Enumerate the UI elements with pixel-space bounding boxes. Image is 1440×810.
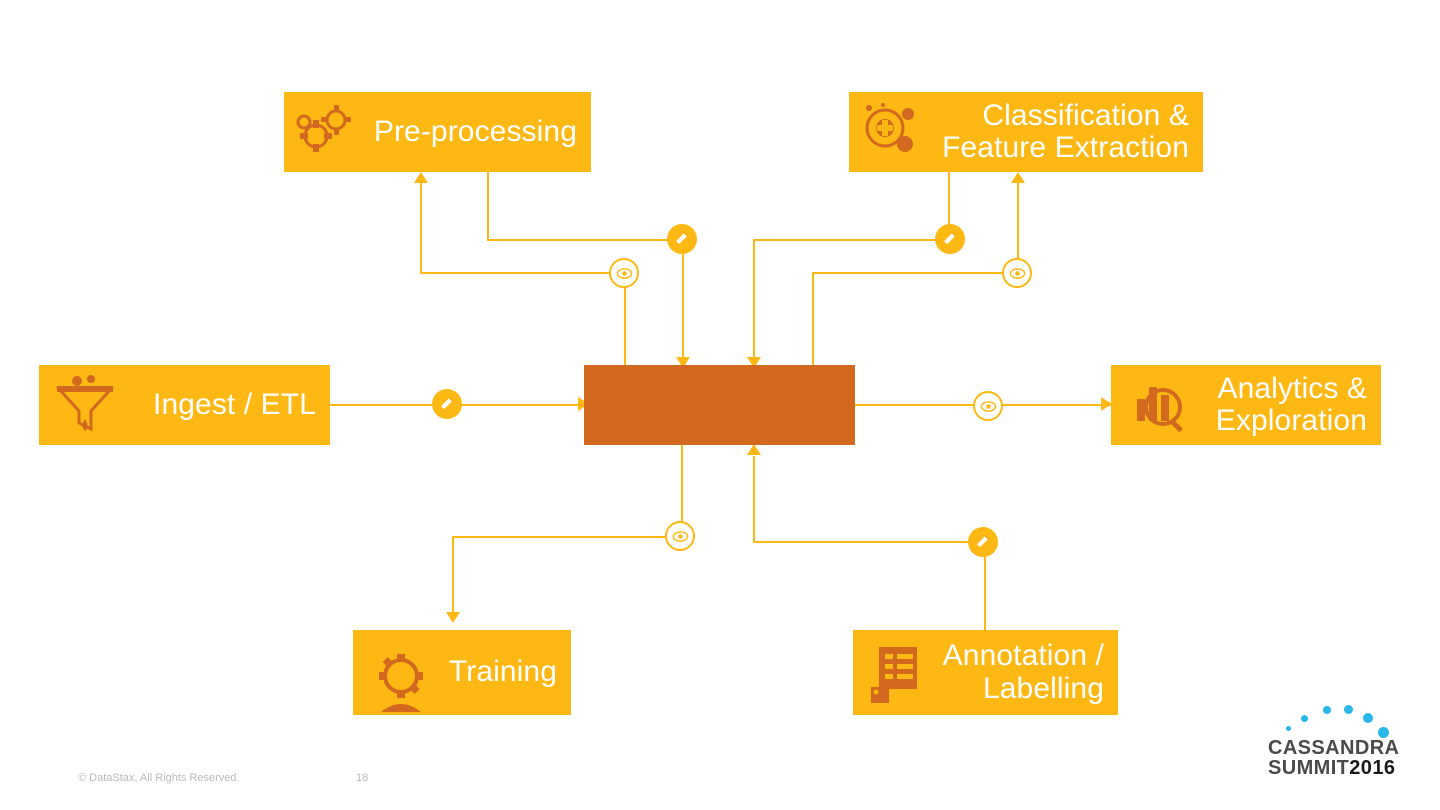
eye-icon [1009, 265, 1026, 282]
pencil-icon [438, 395, 456, 413]
badge-read-preprocessing[interactable] [609, 258, 639, 288]
badge-read-analytics[interactable] [973, 391, 1003, 421]
node-classification[interactable]: Classification & Feature Extraction [849, 92, 1203, 172]
logo-dot-4 [1344, 705, 1353, 714]
badge-write-preprocessing[interactable] [667, 224, 697, 254]
footer-copyright: © DataStax, All Rights Reserved. [78, 772, 240, 784]
cog-person-icon [371, 650, 435, 716]
badge-write-ingest[interactable] [432, 389, 462, 419]
connector-preprocessing-read-vertical-left [420, 183, 422, 272]
badge-write-classification[interactable] [935, 224, 965, 254]
funnel-icon [53, 373, 117, 437]
logo-line-2-year: 2016 [1349, 757, 1395, 779]
node-analytics[interactable]: Analytics & Exploration [1111, 365, 1381, 445]
document-tag-icon [867, 641, 931, 705]
connector-preprocessing-write-horizontal [487, 239, 683, 241]
badge-write-annotation[interactable] [968, 527, 998, 557]
logo-line-2-prefix: SUMMIT [1268, 757, 1349, 779]
badge-read-classification[interactable] [1002, 258, 1032, 288]
cassandra-summit-logo: CASSANDRA SUMMIT2016 [1268, 700, 1408, 780]
eye-icon [672, 528, 689, 545]
logo-line-1: CASSANDRA [1268, 738, 1408, 758]
logo-text: CASSANDRA SUMMIT2016 [1268, 738, 1408, 778]
connector-preprocessing-read-horizontal [420, 272, 624, 274]
logo-dot-5 [1363, 713, 1373, 723]
arrowhead-annotation-write [747, 444, 761, 455]
connector-preprocessing-write-vertical-right [682, 239, 684, 364]
node-annotation[interactable]: Annotation / Labelling [853, 630, 1118, 715]
connector-classification-write-vertical-left [753, 239, 755, 364]
eye-icon [616, 265, 633, 282]
connector-classification-read-horizontal [812, 272, 1017, 274]
node-training[interactable]: Training [353, 630, 571, 715]
connector-annotation-write-vertical-left [753, 456, 755, 541]
node-pre-processing[interactable]: Pre-processing [284, 92, 591, 172]
connector-training-read-vertical-left [452, 536, 454, 618]
chart-magnifier-icon [1129, 373, 1193, 437]
arrowhead-preprocessing-read [414, 172, 428, 183]
pencil-icon [673, 230, 691, 248]
logo-dot-2 [1301, 715, 1308, 722]
connector-preprocessing-write-vertical-left [487, 172, 489, 240]
gears-icon [294, 100, 358, 164]
eye-icon [980, 398, 997, 415]
pencil-icon [941, 230, 959, 248]
pencil-icon [974, 533, 992, 551]
arrowhead-classification-read [1011, 172, 1025, 183]
connector-annotation-write-horizontal [753, 541, 984, 543]
arrowhead-training-read [446, 612, 460, 623]
slide-canvas: Pre-processing Classification & Feature … [0, 0, 1440, 810]
logo-line-2: SUMMIT2016 [1268, 758, 1408, 778]
connector-classification-read-vertical-left [812, 272, 814, 368]
node-ingest-etl[interactable]: Ingest / ETL [39, 365, 330, 445]
target-cross-icon [857, 100, 921, 164]
logo-dot-1 [1286, 726, 1291, 731]
logo-dot-3 [1323, 706, 1331, 714]
node-central-store[interactable] [584, 365, 855, 445]
badge-read-training[interactable] [665, 521, 695, 551]
footer-page-number: 18 [356, 772, 368, 784]
connector-training-read-horizontal [452, 536, 681, 538]
connector-classification-write-horizontal [753, 239, 949, 241]
